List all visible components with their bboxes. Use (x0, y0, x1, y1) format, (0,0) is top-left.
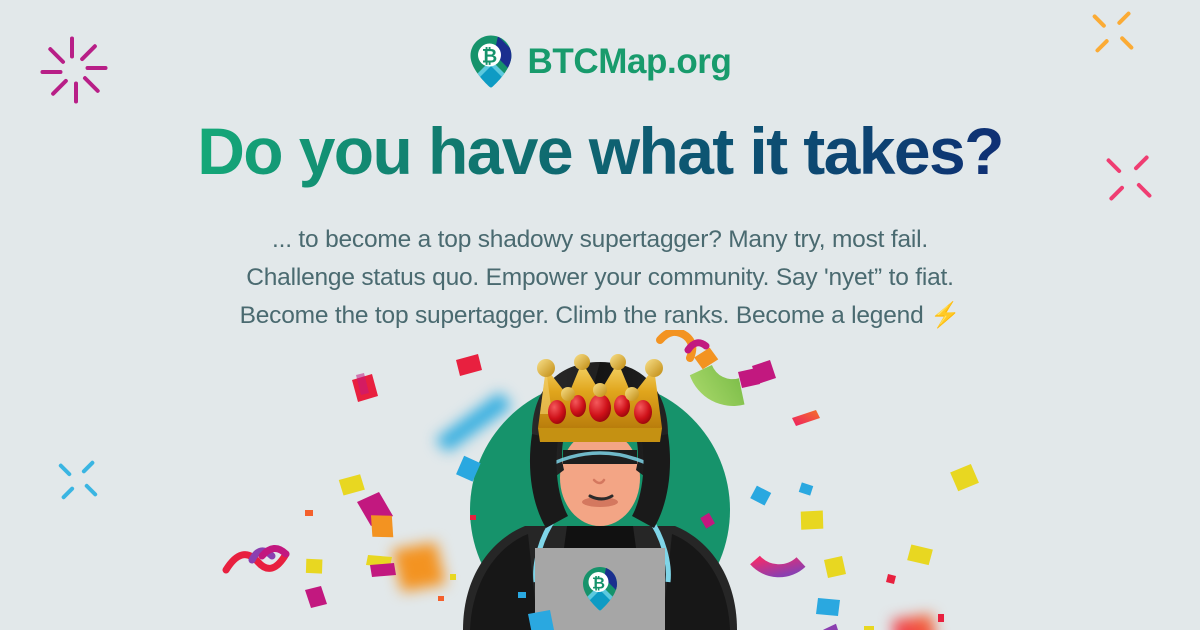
svg-text:₿: ₿ (592, 575, 605, 593)
confetti-blur-orange (392, 542, 446, 592)
page-subtitle: ... to become a top shadowy supertagger?… (0, 221, 1200, 335)
page-title: Do you have what it takes? (0, 113, 1200, 189)
subtitle-line-2: Challenge status quo. Empower your commu… (0, 259, 1200, 297)
btcmap-pin-icon: ₿ (468, 34, 514, 90)
confetti-arc-pink (755, 560, 801, 571)
subtitle-line-1: ... to become a top shadowy supertagger?… (0, 221, 1200, 259)
brand-wordmark: BTCMap.org (527, 42, 731, 82)
poster-canvas: ₿ BTCMap.org Do you have what it takes? … (0, 0, 1200, 630)
laptop: ₿ (535, 548, 665, 630)
hero-illustration: ₿ (0, 330, 1200, 630)
svg-text:₿: ₿ (482, 47, 497, 68)
confetti-blur-red (892, 614, 938, 630)
brand-header[interactable]: ₿ BTCMap.org (0, 34, 1200, 90)
